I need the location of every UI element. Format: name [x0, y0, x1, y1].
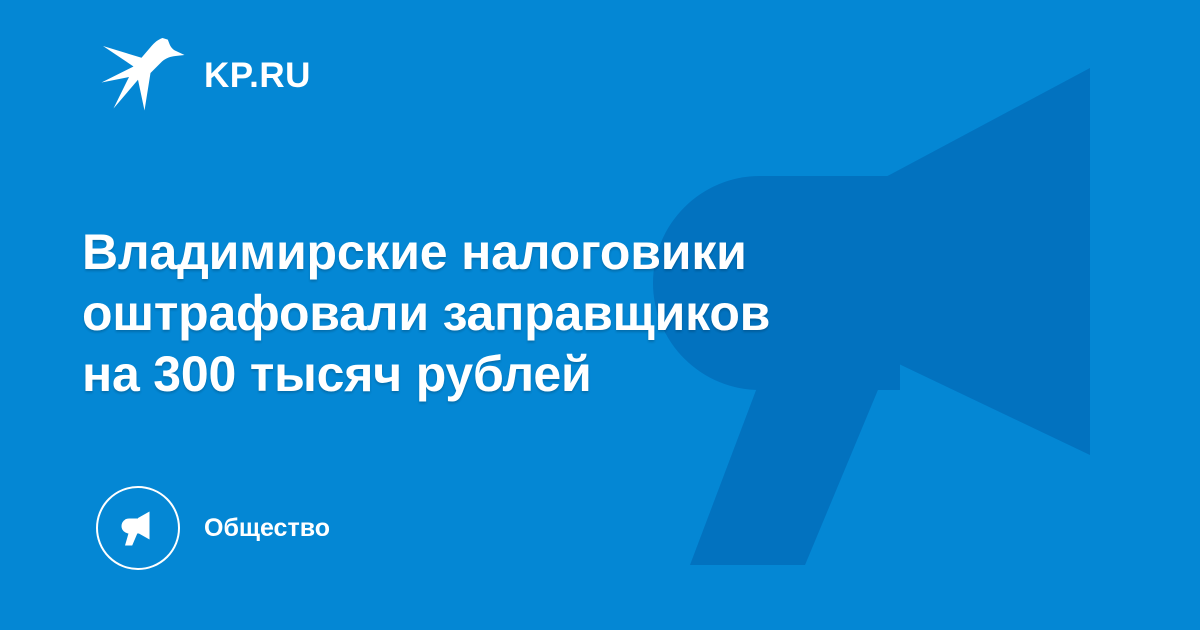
swallow-bird-icon	[100, 35, 186, 111]
headline-line-2: оштрафовали заправщиков	[82, 283, 982, 344]
brand-logo[interactable]: KP.RU	[100, 32, 311, 114]
page-title: Владимирские налоговики оштрафовали запр…	[82, 222, 982, 405]
category-label: Общество	[204, 516, 330, 541]
category-icon-circle	[96, 486, 180, 570]
megaphone-icon	[116, 506, 160, 550]
category-badge[interactable]: Общество	[96, 484, 330, 572]
headline-line-3: на 300 тысяч рублей	[82, 344, 982, 405]
headline-line-1: Владимирские налоговики	[82, 222, 982, 283]
brand-name: KP.RU	[204, 58, 311, 93]
share-card: KP.RU Владимирские налоговики оштрафовал…	[0, 0, 1200, 630]
